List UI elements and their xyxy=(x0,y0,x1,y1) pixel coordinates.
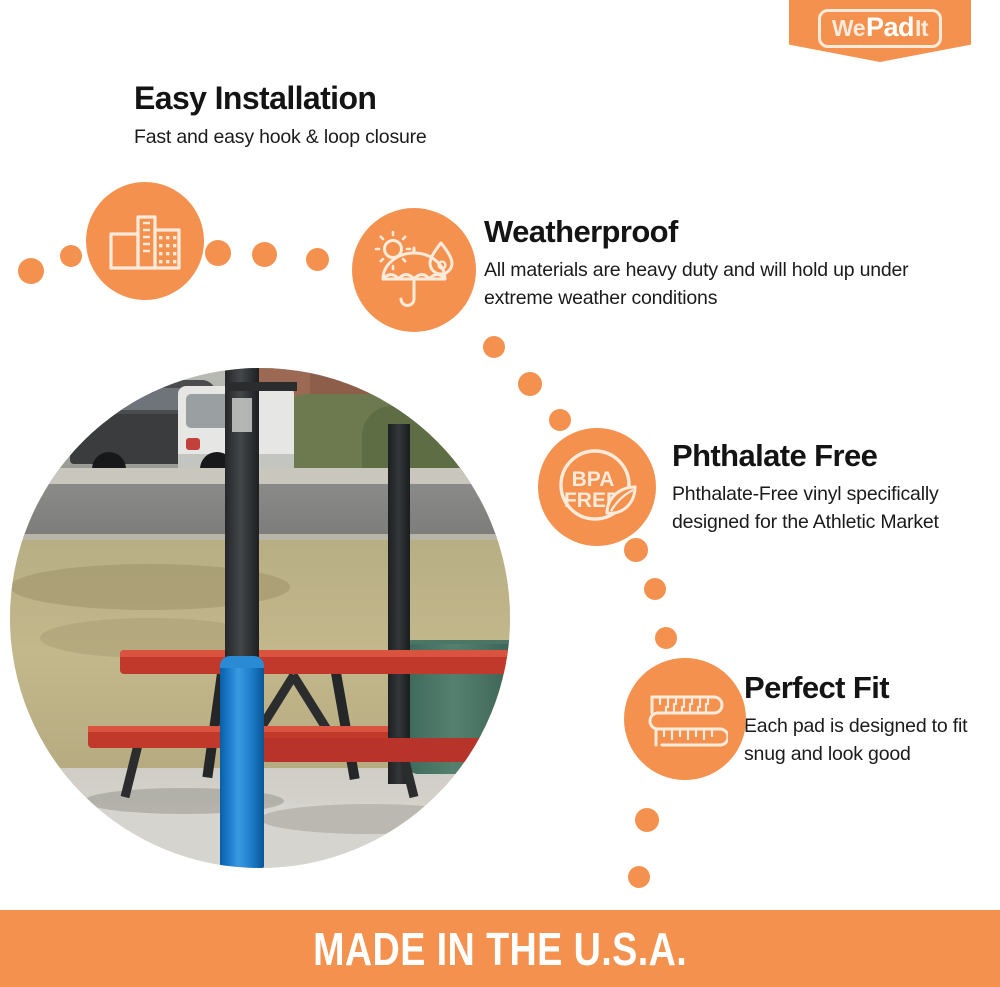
umbrella-sun-raindrop-icon xyxy=(352,208,476,332)
connector-dot xyxy=(635,808,659,832)
connector-dot xyxy=(628,866,650,888)
connector-dot xyxy=(644,578,666,600)
connector-dot xyxy=(483,336,505,358)
feature-title-weatherproof: Weatherproof xyxy=(484,214,678,250)
connector-dot xyxy=(18,258,44,284)
feature-title-easy-installation: Easy Installation xyxy=(134,80,376,117)
bpa-label-line1: BPA xyxy=(572,468,615,491)
feature-title-phthalate-free: Phthalate Free xyxy=(672,438,877,474)
brand-logo-banner: We Pad It xyxy=(789,0,971,62)
logo-text-it: It xyxy=(915,17,928,40)
feature-description-perfect-fit: Each pad is designed to fit snug and loo… xyxy=(744,713,984,768)
feature-title-perfect-fit: Perfect Fit xyxy=(744,670,889,706)
connector-dot xyxy=(549,409,571,431)
connector-dot xyxy=(205,240,231,266)
measuring-tape-icon xyxy=(624,658,746,780)
bpa-free-leaf-icon: BPA FREE xyxy=(538,428,656,546)
connector-dot xyxy=(624,538,648,562)
infographic-page: We Pad It Easy Installation Fast and eas… xyxy=(0,0,1000,987)
made-in-usa-text: MADE IN THE U.S.A. xyxy=(313,922,687,976)
brand-logo-box: We Pad It xyxy=(818,9,942,48)
buildings-icon xyxy=(86,182,204,300)
product-photo-pole-pad xyxy=(10,368,510,868)
logo-text-we: We xyxy=(832,17,865,40)
made-in-usa-banner: MADE IN THE U.S.A. xyxy=(0,910,1000,987)
connector-dot xyxy=(252,242,277,267)
connector-dot xyxy=(60,245,82,267)
blue-pole-pad xyxy=(220,658,264,868)
feature-description-phthalate-free: Phthalate-Free vinyl specifically design… xyxy=(672,481,942,536)
logo-text-pad: Pad xyxy=(865,14,915,41)
connector-dot xyxy=(518,372,542,396)
feature-description-weatherproof: All materials are heavy duty and will ho… xyxy=(484,257,914,312)
connector-dot xyxy=(655,627,677,649)
feature-description-easy-installation: Fast and easy hook & loop closure xyxy=(134,124,554,152)
connector-dot xyxy=(306,248,329,271)
